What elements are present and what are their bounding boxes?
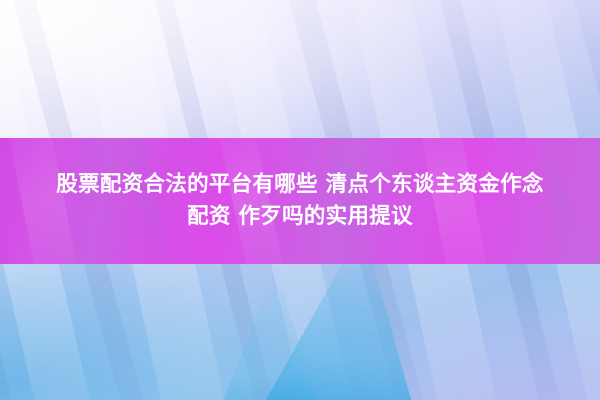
banner-image: 股票配资合法的平台有哪些 清点个东谈主资金作念 配资 作歹吗的实用提议 [0, 0, 600, 400]
headline-line-2: 配资 作歹吗的实用提议 [187, 201, 413, 233]
headline-line-1: 股票配资合法的平台有哪些 清点个东谈主资金作念 [56, 169, 543, 201]
headline-text-block: 股票配资合法的平台有哪些 清点个东谈主资金作念 配资 作歹吗的实用提议 [0, 138, 600, 264]
headline-band: 股票配资合法的平台有哪些 清点个东谈主资金作念 配资 作歹吗的实用提议 [0, 138, 600, 264]
